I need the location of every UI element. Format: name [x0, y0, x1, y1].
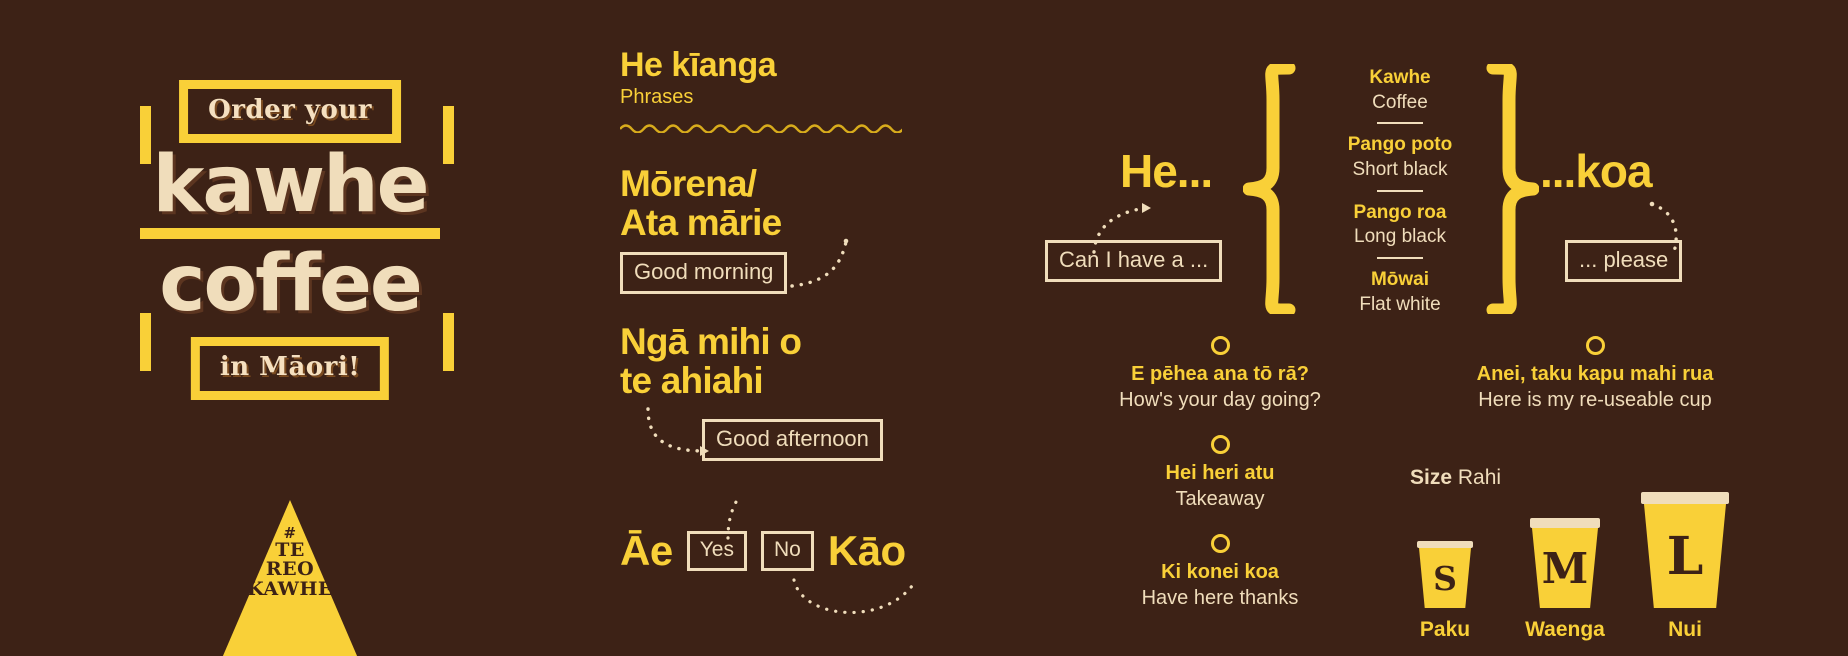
coffee-name-mi: Pango poto: [1290, 133, 1510, 158]
coffee-separator: [1377, 257, 1423, 259]
phrase-entry: E pēhea ana tō rā? How's your day going?: [1050, 336, 1390, 413]
coffee-separator: [1377, 190, 1423, 192]
coffee-name-en: Coffee: [1290, 91, 1510, 116]
cup-size-name: Nui: [1640, 618, 1730, 642]
yes-no-row: Āe Yes No Kāo: [620, 530, 906, 572]
wavy-divider: [620, 121, 902, 133]
coffee-name-mi: Pango roa: [1290, 201, 1510, 226]
coffee-item: Kawhe Coffee: [1290, 66, 1510, 115]
poster-canvas: Order your kawhe coffee in Māori! # TE R…: [0, 0, 1848, 656]
phrase-en: How's your day going?: [1050, 387, 1390, 413]
cup-size-name: Waenga: [1520, 618, 1610, 642]
te-reo-kawhe-triangle: # TE REO KAWHE: [204, 500, 376, 656]
phrase-ngamihi-en: Good afternoon: [702, 419, 883, 461]
connector-dotted-morena: [788, 236, 858, 292]
top-badge-row: Order your: [140, 80, 440, 148]
cup-medium: M Waenga: [1520, 518, 1610, 642]
connector-dotted-he: [1088, 200, 1158, 256]
phrase-entry: Anei, taku kapu mahi rua Here is my re-u…: [1425, 336, 1765, 413]
cup-lid-icon: [1417, 541, 1473, 548]
coffee-item: Mōwai Flat white: [1290, 268, 1510, 317]
cups-row: S Paku M Waenga L Nui: [1400, 492, 1730, 642]
word-coffee: coffee: [140, 247, 440, 321]
size-label-mi: Rahi: [1458, 466, 1501, 489]
coffee-types-list: Kawhe Coffee Pango poto Short black Pang…: [1290, 66, 1510, 320]
phrase-mi: E pēhea ana tō rā?: [1050, 362, 1390, 387]
brace-right: [1483, 64, 1539, 314]
cup-small: S Paku: [1400, 541, 1490, 642]
connector-dotted-yes: [714, 498, 754, 542]
cup-size-name: Paku: [1400, 618, 1490, 642]
size-label-en: Size: [1410, 466, 1452, 489]
connector-dotted-koa: [1648, 198, 1708, 256]
phrase-morena-en: Good morning: [620, 252, 787, 294]
coffee-item: Pango roa Long black: [1290, 201, 1510, 250]
cup-letter: M: [1542, 544, 1589, 593]
coffee-separator: [1377, 122, 1423, 124]
circle-bullet-icon: [1211, 534, 1230, 553]
circle-bullet-icon: [1586, 336, 1605, 355]
phrases-title-mi: He kīanga: [620, 48, 940, 83]
coffee-item: Pango poto Short black: [1290, 133, 1510, 182]
phrases-column: He kīanga Phrases Mōrena/Ata mārie Good …: [620, 48, 940, 459]
yes-label-mi: Āe: [620, 530, 673, 572]
bottom-badge-row: in Māori!: [140, 327, 440, 395]
phrase-ngamihi-mi: Ngā mihi ote ahiahi: [620, 322, 940, 400]
phrase-morena-mi: Mōrena/Ata mārie: [620, 164, 940, 242]
cup-letter: L: [1667, 526, 1704, 587]
cup-lid-icon: [1530, 518, 1600, 528]
phrase-entry: Ki konei koa Have here thanks: [1050, 534, 1390, 611]
phrases-title-en: Phrases: [620, 83, 940, 111]
phrase-mi: Anei, taku kapu mahi rua: [1425, 362, 1765, 387]
phrase-list-left: E pēhea ana tō rā? How's your day going?…: [1050, 336, 1390, 633]
coffee-name-en: Flat white: [1290, 293, 1510, 318]
cup-body-icon: S: [1419, 548, 1471, 608]
cup-body-icon: M: [1532, 528, 1598, 608]
no-label-mi: Kāo: [828, 530, 906, 572]
connector-dotted-no: [790, 578, 930, 628]
coffee-name-mi: Kawhe: [1290, 66, 1510, 91]
he-prefix-mi: He...: [1120, 148, 1212, 194]
cup-letter: S: [1433, 559, 1457, 598]
in-maori-label: in Māori!: [220, 352, 360, 382]
phrase-mi: Ki konei koa: [1050, 560, 1390, 585]
phrase-list-right: Anei, taku kapu mahi rua Here is my re-u…: [1425, 336, 1765, 435]
koa-suffix-mi: ...koa: [1540, 148, 1652, 194]
order-your-badge: Order your: [179, 80, 401, 143]
cup-large: L Nui: [1640, 492, 1730, 642]
triangle-text: # TE REO KAWHE: [204, 526, 376, 599]
coffee-name-en: Long black: [1290, 225, 1510, 250]
phrase-en: Have here thanks: [1050, 585, 1390, 611]
order-your-label: Order your: [208, 95, 372, 125]
size-label: Size Rahi: [1410, 466, 1501, 490]
cup-body-icon: L: [1644, 504, 1726, 608]
phrase-en: Takeaway: [1050, 486, 1390, 512]
phrase-entry: Hei heri atu Takeaway: [1050, 435, 1390, 512]
in-maori-badge: in Māori!: [191, 337, 389, 400]
circle-bullet-icon: [1211, 336, 1230, 355]
cup-lid-icon: [1641, 492, 1729, 504]
coffee-name-en: Short black: [1290, 158, 1510, 183]
logo-block: Order your kawhe coffee in Māori!: [140, 80, 440, 395]
phrase-mi: Hei heri atu: [1050, 461, 1390, 486]
circle-bullet-icon: [1211, 435, 1230, 454]
triangle-line-kawhe: KAWHE: [247, 578, 333, 600]
phrase-en: Here is my re-useable cup: [1425, 387, 1765, 413]
coffee-name-mi: Mōwai: [1290, 268, 1510, 293]
no-label-en: No: [761, 531, 814, 570]
